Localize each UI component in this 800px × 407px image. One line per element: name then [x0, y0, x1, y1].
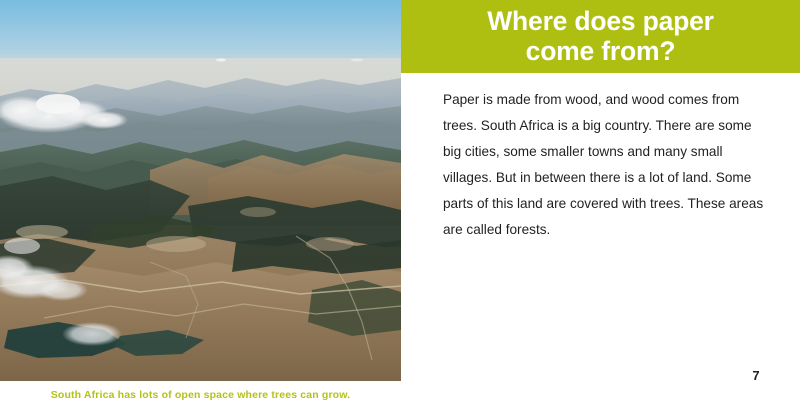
book-page: South Africa has lots of open space wher…	[0, 0, 800, 407]
content-panel: Where does paper come from? Paper is mad…	[401, 0, 800, 407]
page-title-line-1: Where does paper	[401, 6, 800, 36]
body-text: Paper is made from wood, and wood comes …	[443, 87, 773, 243]
photo-caption: South Africa has lots of open space wher…	[0, 383, 401, 407]
page-title-line-2: come from?	[401, 36, 800, 66]
page-title: Where does paper come from?	[401, 6, 800, 66]
aerial-landscape-photo	[0, 0, 401, 381]
landscape-photo-graphic	[0, 0, 401, 381]
page-number: 7	[731, 368, 781, 383]
body-paragraph: Paper is made from wood, and wood comes …	[443, 87, 773, 243]
